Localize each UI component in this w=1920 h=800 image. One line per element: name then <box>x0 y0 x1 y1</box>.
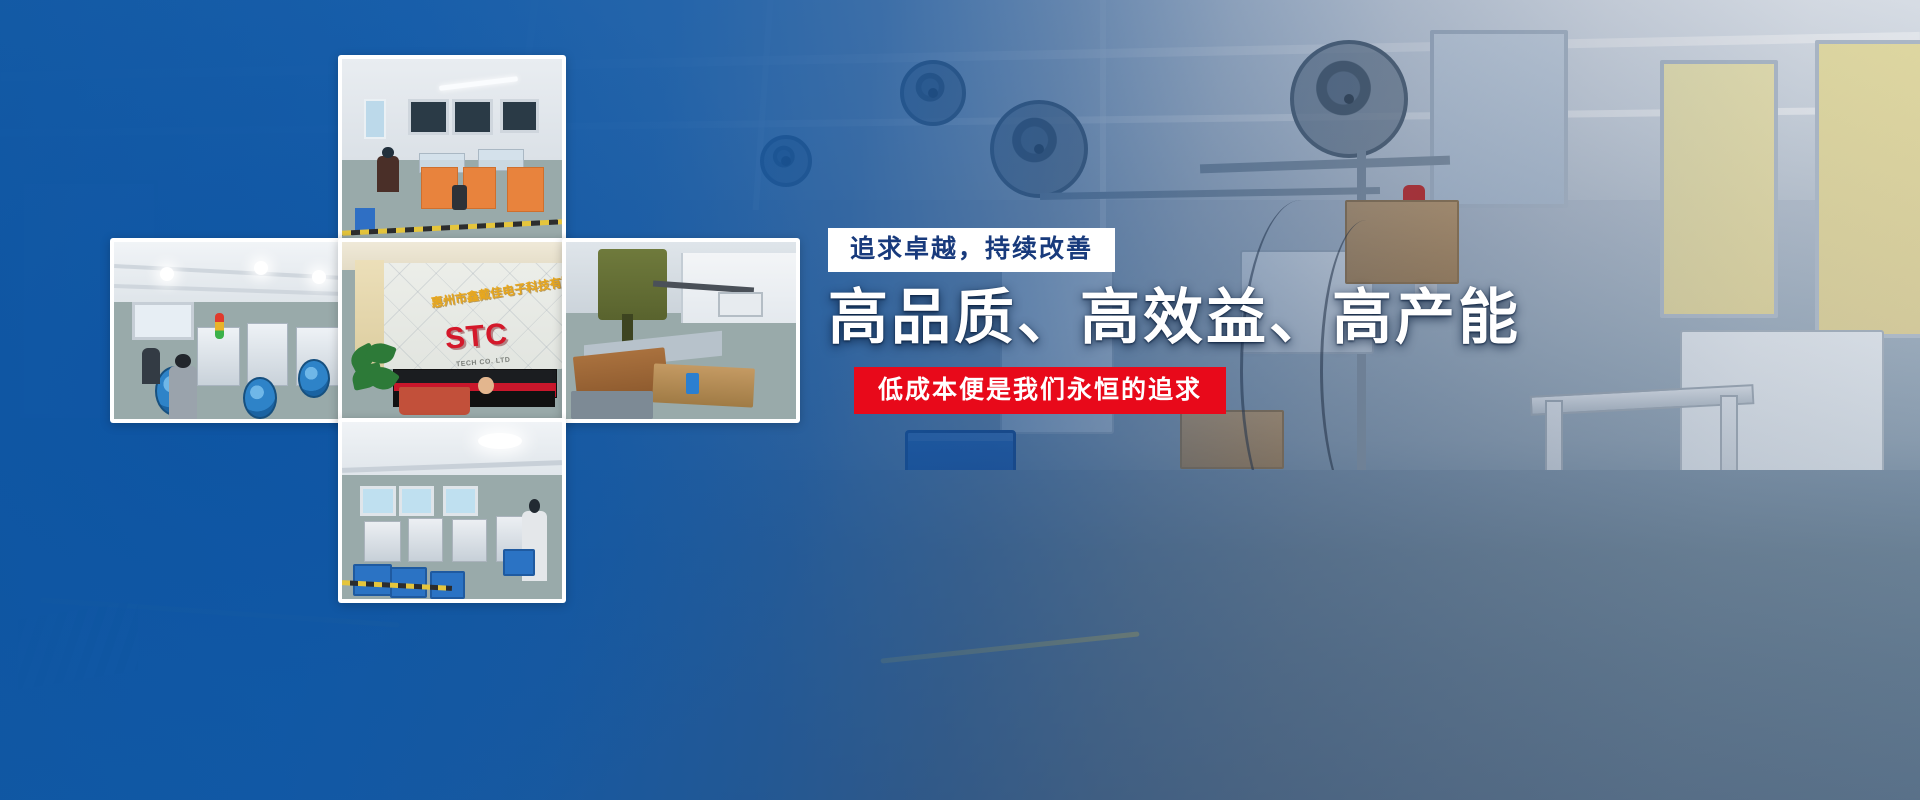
machine <box>452 519 487 562</box>
orange-desk <box>463 167 496 209</box>
window <box>443 486 478 517</box>
collage-photo-bottom[interactable] <box>338 418 566 603</box>
photo-collage: 惠州市鑫戴佳电子科技有限公司 STC TECH CO. LTD <box>110 55 810 603</box>
collage-photo-top[interactable] <box>338 55 566 243</box>
window <box>500 99 539 134</box>
slogan-block: 追求卓越，持续改善 高品质、高效益、高产能 低成本便是我们永恒的追求 <box>828 228 1568 414</box>
machine <box>364 521 401 562</box>
slogan-headline: 高品质、高效益、高产能 <box>828 286 1568 351</box>
floor-hazard-stripe <box>342 219 562 236</box>
machine-shop-image <box>566 242 796 419</box>
ceiling-light <box>160 267 174 281</box>
flower-pot <box>399 387 469 415</box>
window <box>132 302 193 340</box>
office-chair <box>452 185 467 210</box>
blue-crate <box>503 549 536 576</box>
slogan-subline: 追求卓越，持续改善 <box>828 228 1115 272</box>
production-line-image <box>114 242 344 419</box>
window <box>408 99 449 136</box>
reception-image: 惠州市鑫戴佳电子科技有限公司 STC TECH CO. LTD <box>342 242 562 419</box>
orange-desk <box>507 167 544 212</box>
worker <box>142 348 160 383</box>
slogan-tagline: 低成本便是我们永恒的追求 <box>854 367 1226 415</box>
worker <box>169 366 197 419</box>
hero-banner: 惠州市鑫戴佳电子科技有限公司 STC TECH CO. LTD <box>0 0 1920 800</box>
machine <box>652 363 755 407</box>
machine <box>571 391 654 419</box>
machine <box>247 323 288 385</box>
machine <box>408 518 443 562</box>
window <box>399 486 434 517</box>
blue-crate <box>353 564 392 596</box>
receptionist <box>478 377 493 395</box>
potted-plant <box>346 341 403 412</box>
window <box>452 99 493 136</box>
ceiling-light <box>478 433 522 449</box>
control-panel <box>718 292 763 317</box>
window <box>360 486 397 517</box>
component-reel <box>243 377 277 419</box>
wall-poster <box>364 99 386 139</box>
assembly-workshop-image <box>342 422 562 599</box>
stc-logo-text: STC <box>444 317 510 356</box>
collage-photo-left[interactable] <box>110 238 348 423</box>
water-bottle <box>686 373 700 394</box>
worker <box>377 156 399 192</box>
office-workstations-image <box>342 59 562 239</box>
signal-tower <box>215 313 224 339</box>
collage-photo-center[interactable]: 惠州市鑫戴佳电子科技有限公司 STC TECH CO. LTD <box>338 238 566 423</box>
collage-photo-right[interactable] <box>562 238 800 423</box>
component-reel <box>298 359 330 398</box>
